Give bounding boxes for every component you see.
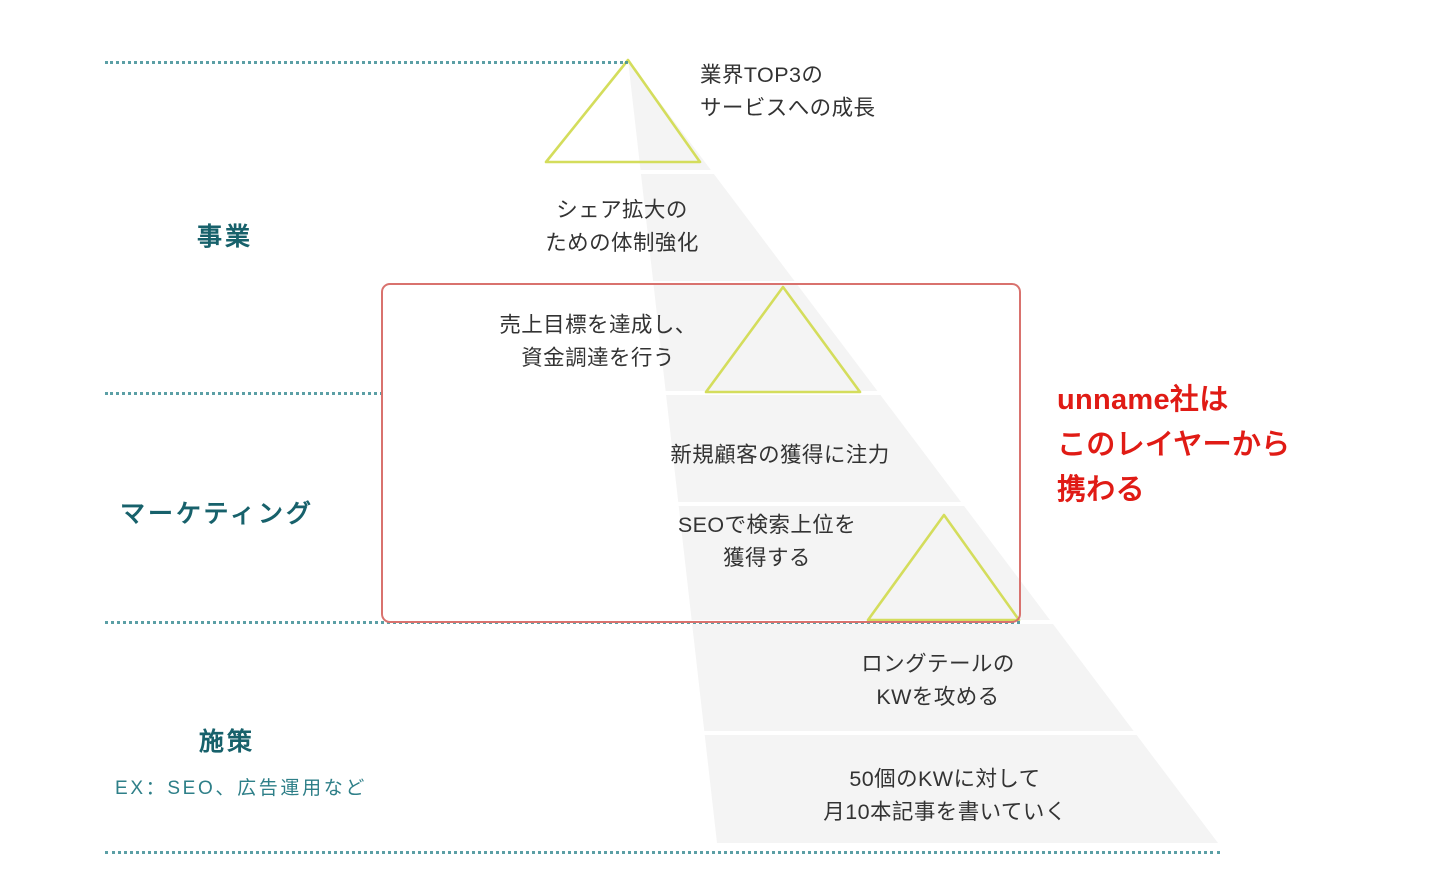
divider-line-business-marketing — [105, 392, 383, 395]
annotation-line-2: このレイヤーから — [1057, 423, 1290, 468]
step-caption-6-line2: KWを攻める — [843, 681, 1033, 714]
divider-line-bottom — [105, 851, 1220, 854]
step-caption-1: 業界TOP3の サービスへの成長 — [700, 59, 875, 126]
triangle-outline-icon-top — [546, 60, 700, 162]
step-caption-6-line1: ロングテールの — [843, 648, 1033, 681]
category-label-business: 事業 — [197, 217, 253, 253]
category-sublabel-tactics: EX：SEO、広告運用など — [115, 773, 367, 800]
category-label-marketing: マーケティング — [120, 494, 314, 530]
step-caption-7: 50個のKWに対して 月10本記事を書いていく — [802, 763, 1088, 830]
step-caption-2-line2: ための体制強化 — [527, 227, 717, 260]
divider-line-top — [105, 61, 628, 64]
step-caption-7-line1: 50個のKWに対して — [802, 763, 1088, 796]
step-caption-6: ロングテールの KWを攻める — [843, 648, 1033, 715]
step-caption-2-line1: シェア拡大の — [527, 194, 717, 227]
annotation-line-1: unname社は — [1057, 378, 1290, 423]
step-caption-7-line2: 月10本記事を書いていく — [802, 796, 1088, 829]
annotation-line-3: 携わる — [1057, 468, 1290, 513]
annotation-text: unname社は このレイヤーから 携わる — [1057, 378, 1290, 513]
highlight-box — [381, 283, 1021, 623]
step-caption-1-line2: サービスへの成長 — [700, 92, 875, 125]
slide-canvas: 事業 マーケティング 施策 EX：SEO、広告運用など 業界TOP3の サービス… — [0, 0, 1440, 891]
pyramid-band-1 — [628, 60, 711, 170]
step-caption-1-line1: 業界TOP3の — [700, 59, 875, 92]
category-label-tactics: 施策 — [199, 722, 255, 758]
step-caption-2: シェア拡大の ための体制強化 — [527, 194, 717, 261]
